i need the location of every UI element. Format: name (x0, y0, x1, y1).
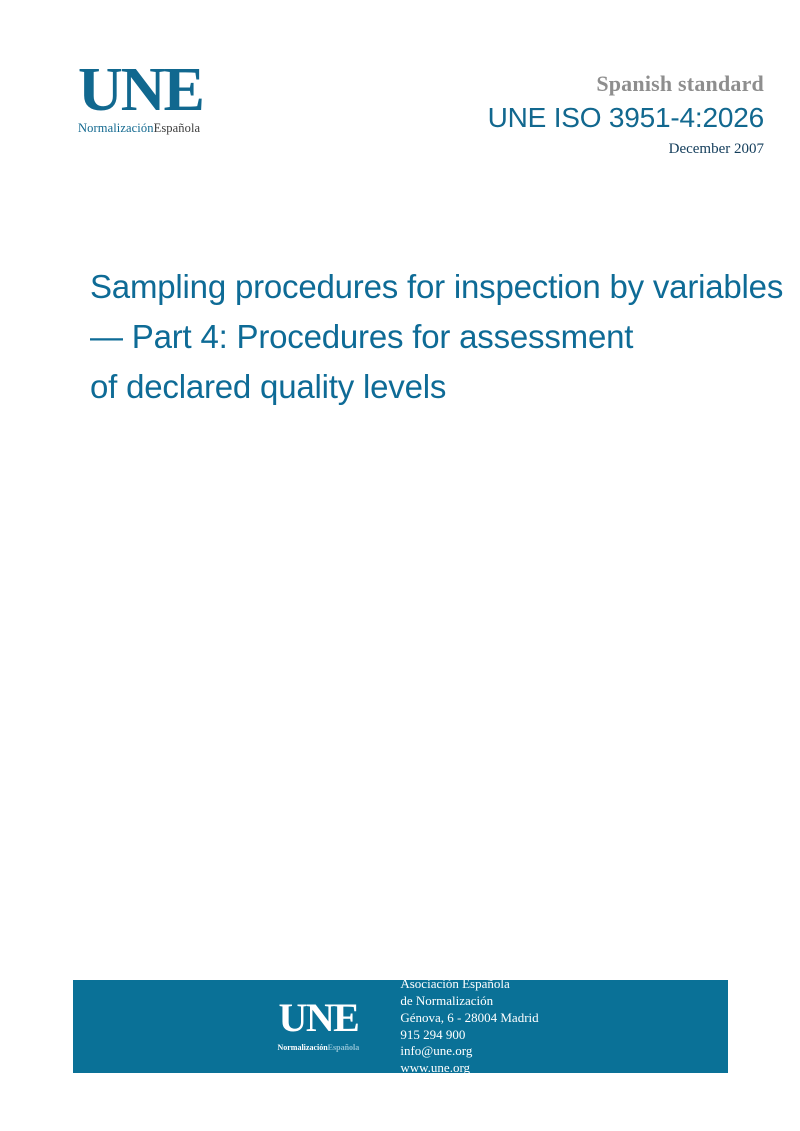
organization-name-line-2: de Normalización (400, 993, 538, 1010)
footer-une-tagline-primary: Normalización (277, 1043, 327, 1052)
phone-number: 915 294 900 (400, 1027, 538, 1044)
document-title-line-2: — Part 4: Procedures for assessment (90, 312, 798, 362)
footer-band: UNE NormalizaciónEspañola Asociación Esp… (73, 980, 728, 1073)
une-tagline-secondary: Española (154, 121, 201, 135)
footer-content: UNE NormalizaciónEspañola Asociación Esp… (262, 976, 538, 1077)
publication-date: December 2007 (344, 140, 764, 160)
footer-une-tagline-secondary: Española (328, 1043, 360, 1052)
footer-contact-details: Asociación Española de Normalización Gén… (400, 976, 538, 1077)
organization-name-line-1: Asociación Española (400, 976, 538, 993)
document-title-line-3: of declared quality levels (90, 362, 798, 412)
standard-kind-label: Spanish standard (344, 70, 764, 98)
une-logo-header: UNE NormalizaciónEspañola (78, 62, 308, 137)
website-url[interactable]: www.une.org (400, 1060, 538, 1077)
document-title-line-1: Sampling procedures for inspection by va… (90, 262, 798, 312)
une-wordmark: UNE (78, 62, 308, 119)
footer-une-tagline: NormalizaciónEspañola (277, 1043, 359, 1052)
standard-reference-number: UNE ISO 3951-4:2026 (344, 100, 764, 136)
email-address[interactable]: info@une.org (400, 1043, 538, 1060)
une-logo-footer: UNE NormalizaciónEspañola (262, 999, 374, 1055)
standard-identification-block: Spanish standard UNE ISO 3951-4:2026 Dec… (344, 70, 764, 160)
document-title: Sampling procedures for inspection by va… (90, 262, 798, 412)
footer-une-wordmark: UNE (262, 999, 374, 1037)
postal-address: Génova, 6 - 28004 Madrid (400, 1010, 538, 1027)
une-tagline: NormalizaciónEspañola (78, 121, 200, 135)
une-tagline-primary: Normalización (78, 121, 154, 135)
